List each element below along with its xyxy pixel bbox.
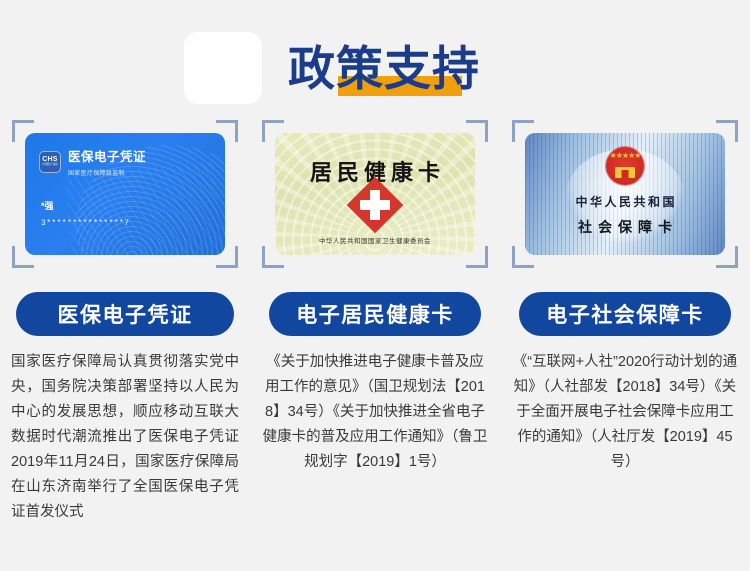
card-holder-name: *强 (41, 199, 54, 212)
cross-glyph-icon (360, 190, 390, 220)
card-frame: ★★★★★ 中华人民共和国 社会保障卡 (510, 118, 740, 270)
card-titles: 医保电子凭证 国家医疗保障局监制 (68, 146, 146, 177)
policy-support-infographic: 政策支持 CHS 中国医疗保障 (0, 0, 750, 571)
column-medical-insurance: CHS 中国医疗保障 医保电子凭证 国家医疗保障局监制 *强 3********… (0, 118, 250, 525)
card-country-line: 中华人民共和国 (525, 193, 725, 210)
card-issuer: 中华人民共和国国家卫生健康委员会 (275, 235, 475, 245)
body-text-social-security-card: 《“互联网+人社”2020行动计划的通知》（人社部发【2018】34号）《关于全… (511, 350, 739, 475)
chs-logo-subtext: 中国医疗保障 (42, 164, 58, 167)
pill-label-health-card[interactable]: 电子居民健康卡 (269, 292, 481, 336)
body-text-health-card: 《关于加快推进电子健康卡普及应用工作的意见》（国卫规划法【2018】34号）《关… (261, 350, 489, 475)
card-frame: CHS 中国医疗保障 医保电子凭证 国家医疗保障局监制 *强 3********… (10, 118, 240, 270)
card-number: 3***************7 (41, 219, 129, 228)
chs-logo-icon: CHS 中国医疗保障 (39, 151, 61, 173)
emblem-gate-icon (615, 167, 635, 178)
body-text-medical-insurance: 国家医疗保障局认真贯彻落实党中央，国务院决策部署坚持以人民为中心的发展思想，顺应… (11, 350, 239, 525)
column-health-card: 居民健康卡 中华人民共和国国家卫生健康委员会 电子居民健康卡 《关于加快推进电子… (250, 118, 500, 525)
pill-label-medical-insurance[interactable]: 医保电子凭证 (16, 292, 234, 336)
decorative-white-square (184, 32, 262, 104)
page-title-wrap: 政策支持 (288, 36, 480, 96)
medical-insurance-card-image: CHS 中国医疗保障 医保电子凭证 国家医疗保障局监制 *强 3********… (25, 133, 225, 255)
card-header: CHS 中国医疗保障 医保电子凭证 国家医疗保障局监制 (39, 146, 146, 177)
page-title: 政策支持 (288, 42, 480, 96)
card-subtitle: 国家医疗保障局监制 (68, 168, 146, 177)
card-title: 医保电子凭证 (68, 146, 146, 165)
emblem-stars-icon: ★★★★★ (606, 152, 644, 160)
pill-label-social-security-card[interactable]: 电子社会保障卡 (519, 292, 731, 336)
resident-health-card-image: 居民健康卡 中华人民共和国国家卫生健康委员会 (275, 133, 475, 255)
card-title: 社会保障卡 (525, 217, 725, 237)
national-emblem-icon: ★★★★★ (606, 147, 644, 185)
header: 政策支持 (0, 0, 750, 118)
policy-columns: CHS 中国医疗保障 医保电子凭证 国家医疗保障局监制 *强 3********… (0, 118, 750, 525)
card-frame: 居民健康卡 中华人民共和国国家卫生健康委员会 (260, 118, 490, 270)
column-social-security-card: ★★★★★ 中华人民共和国 社会保障卡 电子社会保障卡 《“互联网+人社”202… (500, 118, 750, 525)
social-security-card-image: ★★★★★ 中华人民共和国 社会保障卡 (525, 133, 725, 255)
